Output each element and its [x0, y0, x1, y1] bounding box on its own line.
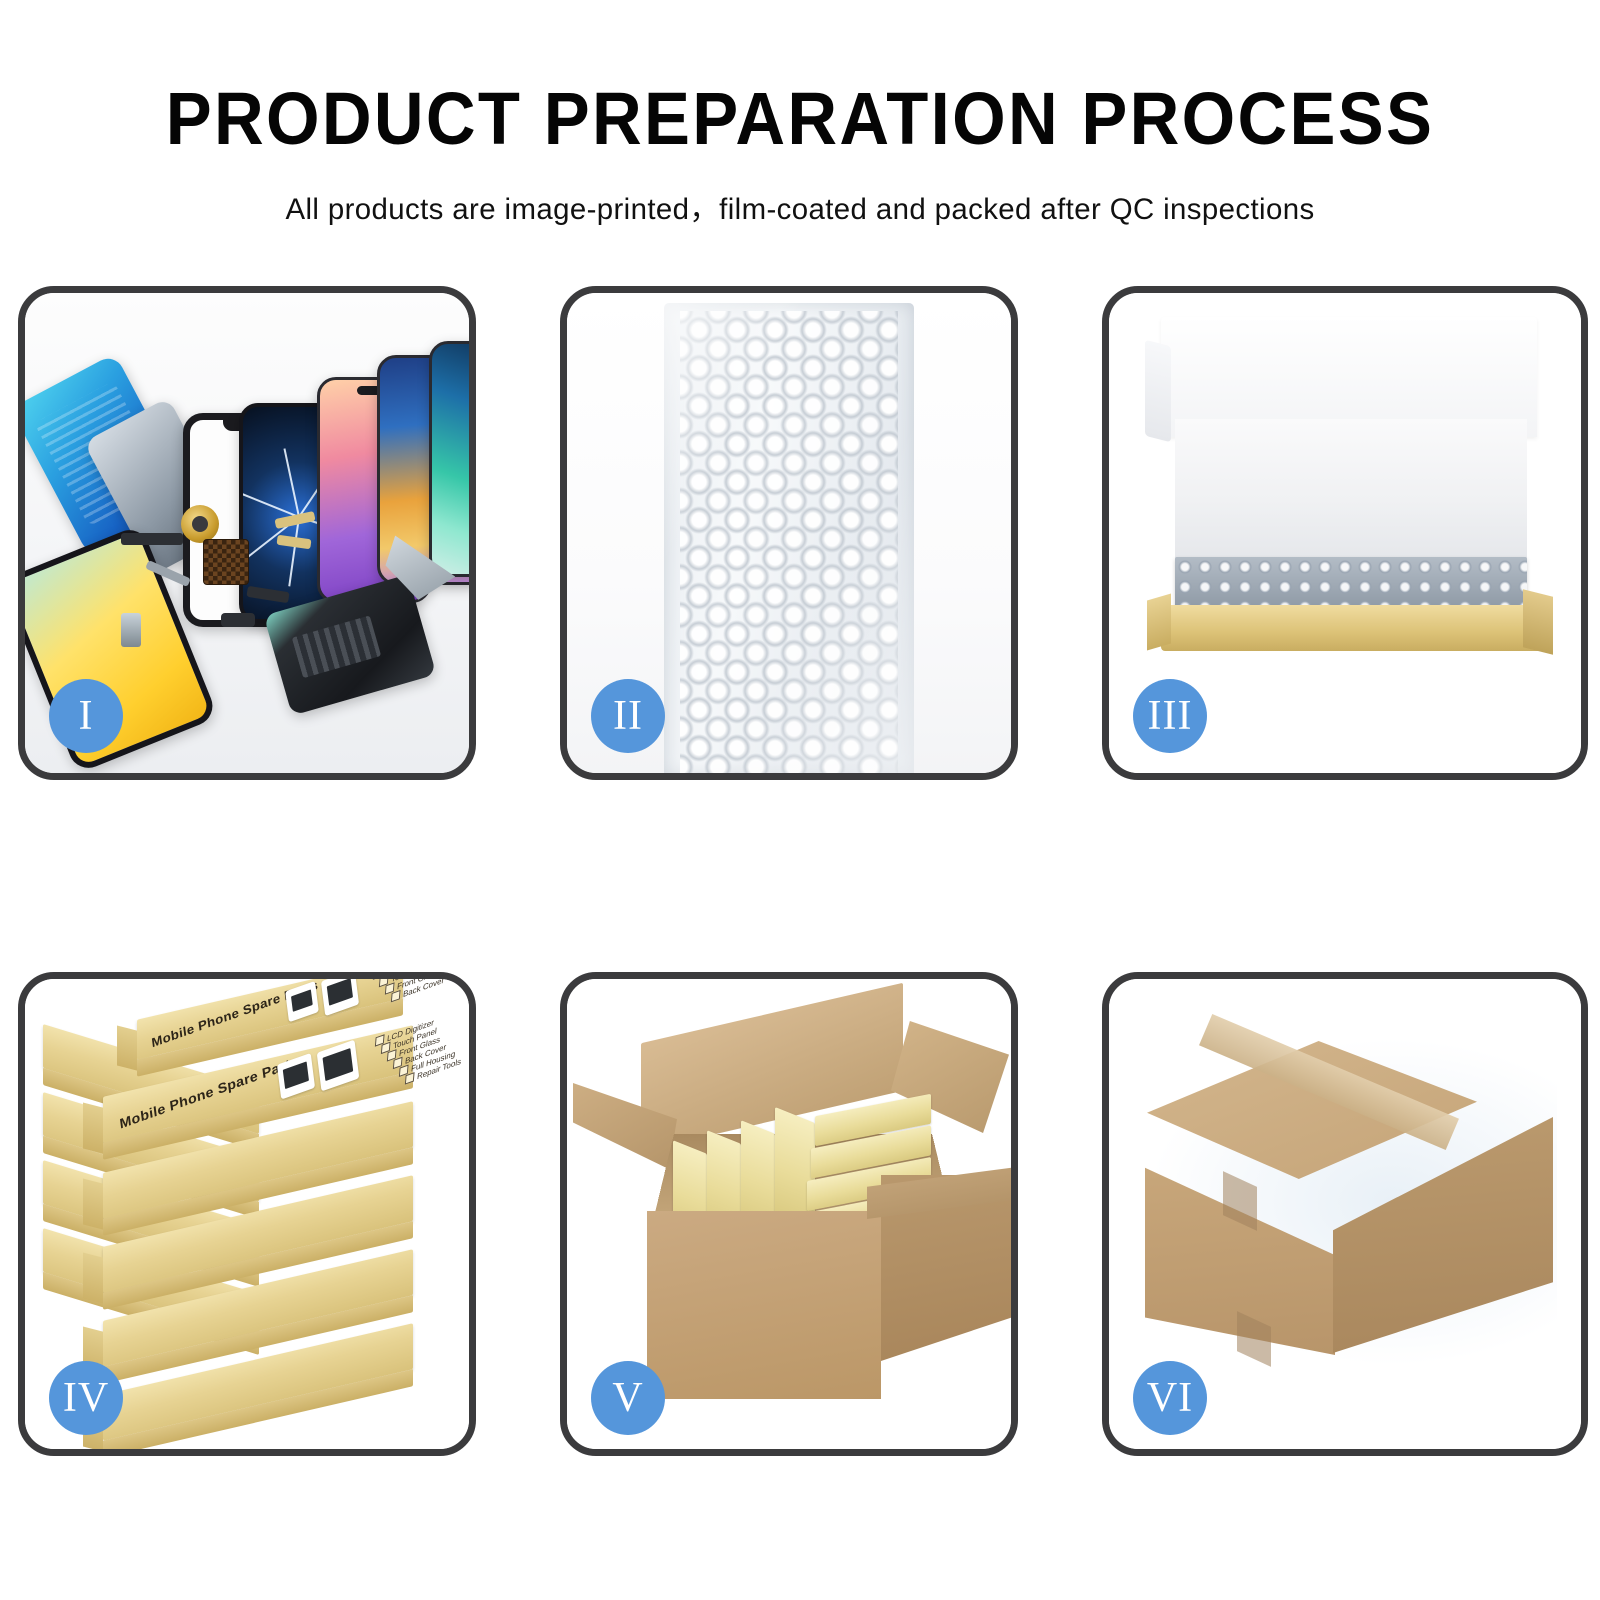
page-header: PRODUCT PREPARATION PROCESS All products…	[0, 0, 1600, 228]
mailer-box-inner-wall	[1175, 419, 1527, 567]
step-badge-6-label: VI	[1147, 1377, 1193, 1419]
phone-display-teal	[429, 341, 476, 577]
step-badge-1-label: I	[79, 695, 94, 737]
page-subtitle: All products are image-printed，film-coat…	[16, 184, 1584, 228]
process-steps-grid: I II III	[0, 286, 1600, 1466]
step-panel-4[interactable]: Mobile Phone Spare Parts LCD Digitizer T…	[18, 972, 476, 1456]
step-badge-6: VI	[1133, 1361, 1207, 1435]
bubble-wrapped-item-inside	[1175, 557, 1527, 611]
step-panel-2[interactable]: II	[560, 286, 1018, 780]
earpiece-speaker-part	[121, 533, 183, 545]
step-panel-6[interactable]: VI	[1102, 972, 1588, 1456]
carton-front-wall	[647, 1211, 881, 1399]
step-badge-4-label: IV	[63, 1377, 109, 1419]
mailer-box-gold-side	[1523, 589, 1553, 654]
step-badge-2: II	[591, 679, 665, 753]
step-badge-5-label: V	[612, 1377, 643, 1419]
step-panel-1[interactable]: I	[18, 286, 476, 780]
page-title: PRODUCT PREPARATION PROCESS	[56, 82, 1544, 156]
step-panel-3[interactable]: III	[1102, 286, 1588, 780]
wireless-charging-coil-icon	[181, 505, 219, 543]
plastic-sheen	[664, 303, 914, 777]
step-badge-5: V	[591, 1361, 665, 1435]
vibrator-motor-part	[221, 613, 255, 627]
step-badge-4: IV	[49, 1361, 123, 1435]
mailer-box-gold-base	[1161, 605, 1543, 651]
sim-tray-part	[121, 613, 141, 647]
step-badge-3: III	[1133, 679, 1207, 753]
ic-chip-icon	[203, 539, 249, 585]
step-badge-3-label: III	[1148, 695, 1193, 737]
step-panel-5[interactable]: V	[560, 972, 1018, 1456]
step-badge-2-label: II	[613, 695, 643, 737]
bubble-wrap-package	[664, 303, 914, 777]
step-badge-1: I	[49, 679, 123, 753]
